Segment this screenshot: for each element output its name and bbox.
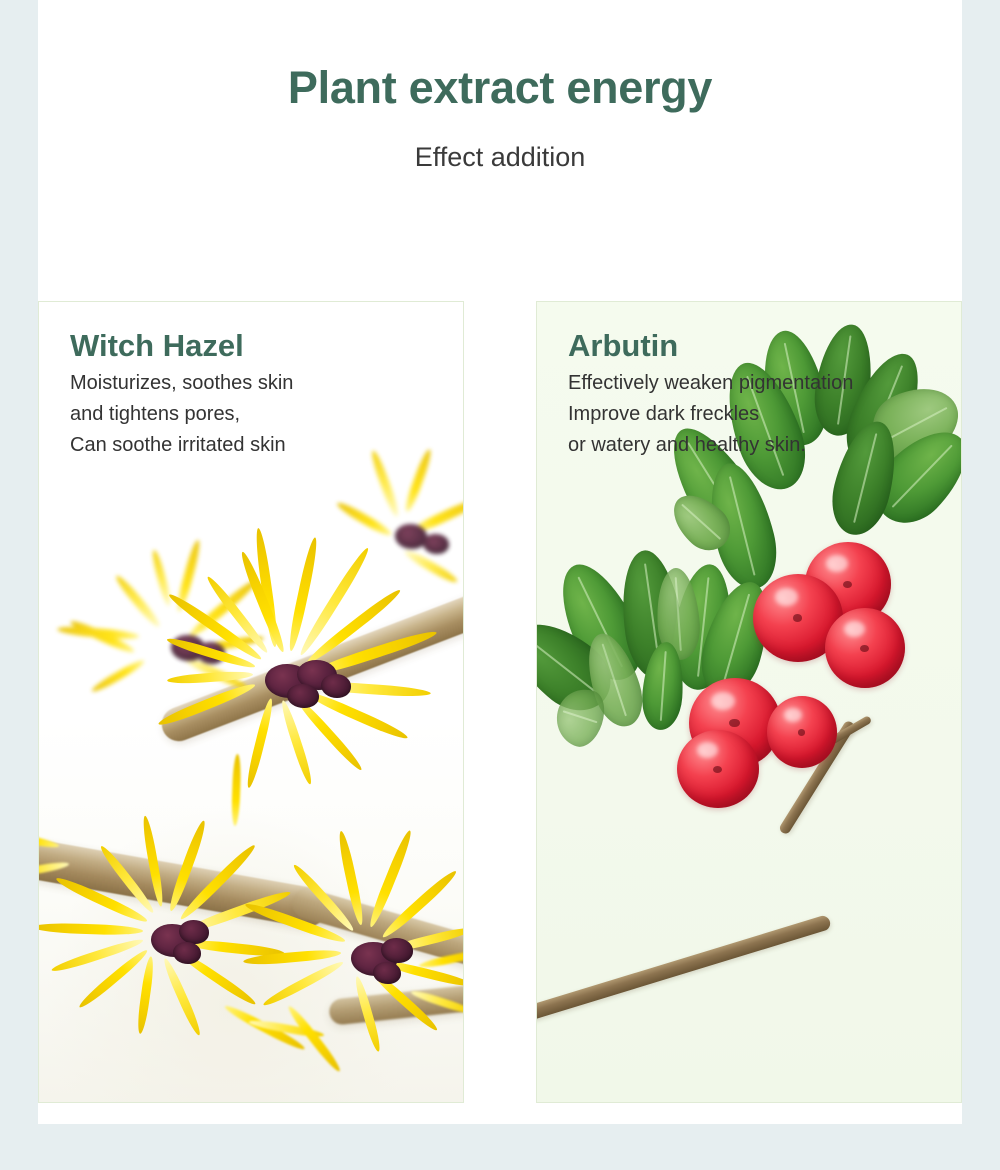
header: Plant extract energy Effect addition (38, 0, 962, 173)
description-line: Improve dark freckles (568, 399, 961, 430)
infographic-page: Plant extract energy Effect addition (0, 0, 1000, 1170)
content-panel: Plant extract energy Effect addition (38, 0, 962, 1124)
description-line: or watery and healthy skin. (568, 430, 961, 461)
card-text-arbutin: Arbutin Effectively weaken pigmentation … (537, 302, 961, 461)
card-heading: Arbutin (568, 328, 961, 365)
card-description: Moisturizes, soothes skin and tightens p… (70, 368, 463, 461)
ingredient-card-witch-hazel: Witch Hazel Moisturizes, soothes skin an… (38, 301, 464, 1103)
description-line: Effectively weaken pigmentation (568, 368, 961, 399)
berry-icon (677, 730, 759, 808)
page-title: Plant extract energy (38, 63, 962, 113)
page-subtitle: Effect addition (38, 141, 962, 173)
berry-icon (767, 696, 837, 768)
ingredient-cards: Witch Hazel Moisturizes, soothes skin an… (38, 301, 962, 1103)
card-heading: Witch Hazel (70, 328, 463, 365)
ingredient-card-arbutin: Arbutin Effectively weaken pigmentation … (536, 301, 962, 1103)
berry-icon (825, 608, 905, 688)
description-line: and tightens pores, (70, 399, 463, 430)
description-line: Moisturizes, soothes skin (70, 368, 463, 399)
card-description: Effectively weaken pigmentation Improve … (568, 368, 961, 461)
card-text-witch-hazel: Witch Hazel Moisturizes, soothes skin an… (39, 302, 463, 461)
description-line: Can soothe irritated skin (70, 430, 463, 461)
